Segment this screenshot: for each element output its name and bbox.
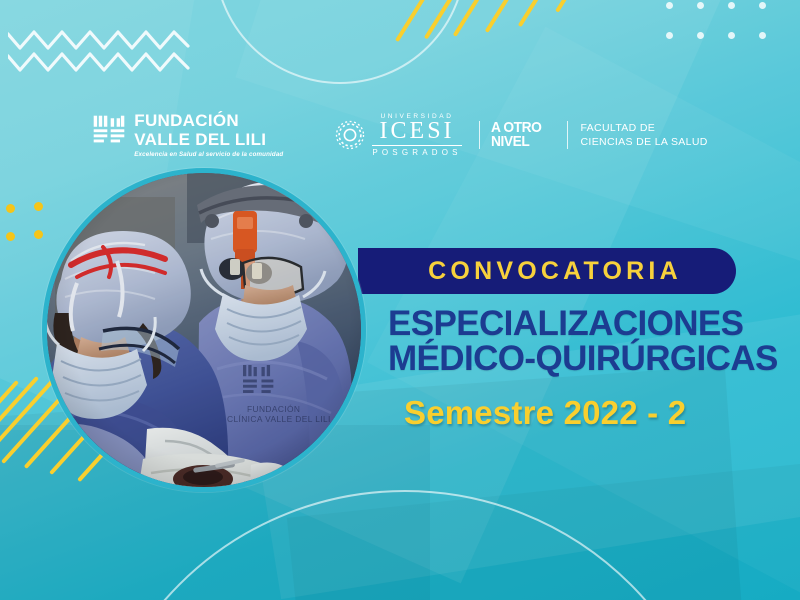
icesi-rule	[372, 145, 461, 146]
headline-line2: MÉDICO-QUIRÚRGICAS	[388, 341, 800, 377]
fvl-line2: VALLE DEL LILI	[134, 131, 283, 148]
facultad-line1: FACULTAD DE	[581, 121, 708, 135]
poster-root: FUNDACIÓN VALLE DEL LILI Excelencia en S…	[0, 0, 800, 600]
logo-facultad-ciencias-salud: FACULTAD DE CIENCIAS DE LA SALUD	[567, 121, 708, 149]
icesi-sub: POSGRADOS	[372, 148, 461, 157]
fvl-line1: FUNDACIÓN	[134, 112, 283, 129]
fvl-cross-weave-icon	[92, 114, 126, 148]
logo-fundacion-valle-del-lili: FUNDACIÓN VALLE DEL LILI Excelencia en S…	[92, 112, 283, 158]
facultad-line2: CIENCIAS DE LA SALUD	[581, 135, 708, 149]
logo-bar: FUNDACIÓN VALLE DEL LILI Excelencia en S…	[0, 100, 800, 170]
anivel-line2: NIVEL	[491, 135, 541, 149]
fvl-tagline: Excelencia en Salud al servicio de la co…	[134, 152, 283, 158]
surgeons-photo-illustration: FUNDACIÓN CLÍNICA VALLE DEL LILI	[47, 173, 361, 487]
surgeons-photo-circle: FUNDACIÓN CLÍNICA VALLE DEL LILI	[42, 168, 366, 492]
convocatoria-ribbon: CONVOCATORIA	[358, 248, 736, 294]
convocatoria-label: CONVOCATORIA	[412, 257, 682, 286]
headline-line1: ESPECIALIZACIONES	[388, 306, 800, 342]
icesi-sun-icon	[335, 120, 365, 150]
yellow-dot-grid-decor	[2, 200, 52, 245]
headline: ESPECIALIZACIONES MÉDICO-QUIRÚRGICAS	[358, 306, 800, 376]
white-dot-grid-decor	[666, 0, 796, 48]
icesi-name: ICESI	[380, 119, 455, 143]
headline-block: CONVOCATORIA ESPECIALIZACIONES MÉDICO-QU…	[358, 248, 800, 432]
semester-label: Semestre 2022 - 2	[358, 394, 800, 432]
surgeons-photo: FUNDACIÓN CLÍNICA VALLE DEL LILI	[47, 173, 361, 487]
logo-icesi: UNIVERSIDAD ICESI POSGRADOS A OTRO NIVEL…	[335, 113, 707, 157]
logo-a-otro-nivel: A OTRO NIVEL	[479, 121, 546, 149]
